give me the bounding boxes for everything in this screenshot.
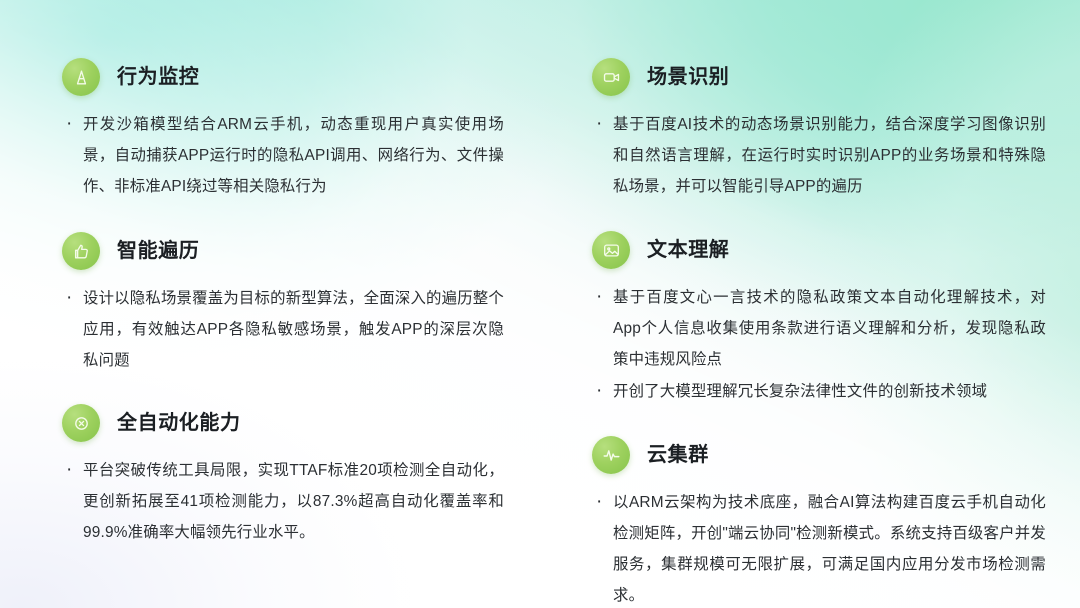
feature-title: 云集群 [647,445,709,465]
feature-title: 全自动化能力 [117,413,241,433]
feature-bullet: 以ARM云架构为技术底座，融合AI算法构建百度云手机自动化检测矩阵，开创"端云协… [592,487,1046,608]
feature-title: 文本理解 [647,240,729,260]
left-column: 行为监控 开发沙箱模型结合ARM云手机，动态重现用户真实使用场景，自动捕获APP… [0,0,540,608]
feature-title: 场景识别 [647,67,729,87]
feature-columns: 行为监控 开发沙箱模型结合ARM云手机，动态重现用户真实使用场景，自动捕获APP… [0,0,1080,608]
feature-bullet-list: 以ARM云架构为技术底座，融合AI算法构建百度云手机自动化检测矩阵，开创"端云协… [592,487,1046,608]
gear-cross-icon [62,404,100,442]
feature-bullet-list: 平台突破传统工具局限，实现TTAF标准20项检测全自动化，更创新拓展至41项检测… [62,455,504,548]
feature-bullet-list: 开发沙箱模型结合ARM云手机，动态重现用户真实使用场景，自动捕获APP运行时的隐… [62,109,504,202]
feature-block-intelligent-traversal: 智能遍历 设计以隐私场景覆盖为目标的新型算法，全面深入的遍历整个应用，有效触达A… [62,232,504,376]
slide-canvas: 行为监控 开发沙箱模型结合ARM云手机，动态重现用户真实使用场景，自动捕获APP… [0,0,1080,608]
feature-bullet: 平台突破传统工具局限，实现TTAF标准20项检测全自动化，更创新拓展至41项检测… [62,455,504,548]
feature-block-scene-recognition: 场景识别 基于百度AI技术的动态场景识别能力，结合深度学习图像识别和自然语言理解… [592,58,1046,202]
feature-bullet-list: 基于百度AI技术的动态场景识别能力，结合深度学习图像识别和自然语言理解，在运行时… [592,109,1046,202]
feature-header: 智能遍历 [62,232,504,270]
feature-title: 行为监控 [117,67,199,87]
feature-header: 场景识别 [592,58,1046,96]
feature-block-full-automation: 全自动化能力 平台突破传统工具局限，实现TTAF标准20项检测全自动化，更创新拓… [62,404,504,548]
feature-block-behavior-monitoring: 行为监控 开发沙箱模型结合ARM云手机，动态重现用户真实使用场景，自动捕获APP… [62,58,504,202]
video-camera-icon [592,58,630,96]
feature-bullet-list: 基于百度文心一言技术的隐私政策文本自动化理解技术，对App个人信息收集使用条款进… [592,282,1046,407]
feature-bullet: 开创了大模型理解冗长复杂法律性文件的创新技术领域 [592,376,1046,407]
feature-header: 行为监控 [62,58,504,96]
right-column: 场景识别 基于百度AI技术的动态场景识别能力，结合深度学习图像识别和自然语言理解… [540,0,1080,608]
feature-header: 文本理解 [592,231,1046,269]
feature-block-cloud-cluster: 云集群 以ARM云架构为技术底座，融合AI算法构建百度云手机自动化检测矩阵，开创… [592,436,1046,608]
feature-bullet: 基于百度AI技术的动态场景识别能力，结合深度学习图像识别和自然语言理解，在运行时… [592,109,1046,202]
feature-bullet-list: 设计以隐私场景覆盖为目标的新型算法，全面深入的遍历整个应用，有效触达APP各隐私… [62,283,504,376]
feature-block-text-understanding: 文本理解 基于百度文心一言技术的隐私政策文本自动化理解技术，对App个人信息收集… [592,231,1046,407]
feature-bullet: 设计以隐私场景覆盖为目标的新型算法，全面深入的遍历整个应用，有效触达APP各隐私… [62,283,504,376]
feature-bullet: 开发沙箱模型结合ARM云手机，动态重现用户真实使用场景，自动捕获APP运行时的隐… [62,109,504,202]
feature-bullet: 基于百度文心一言技术的隐私政策文本自动化理解技术，对App个人信息收集使用条款进… [592,282,1046,375]
image-text-icon [592,231,630,269]
feature-title: 智能遍历 [117,241,199,261]
pulse-icon [592,436,630,474]
feature-header: 全自动化能力 [62,404,504,442]
thumbs-up-icon [62,232,100,270]
sandbox-monitor-icon [62,58,100,96]
feature-header: 云集群 [592,436,1046,474]
